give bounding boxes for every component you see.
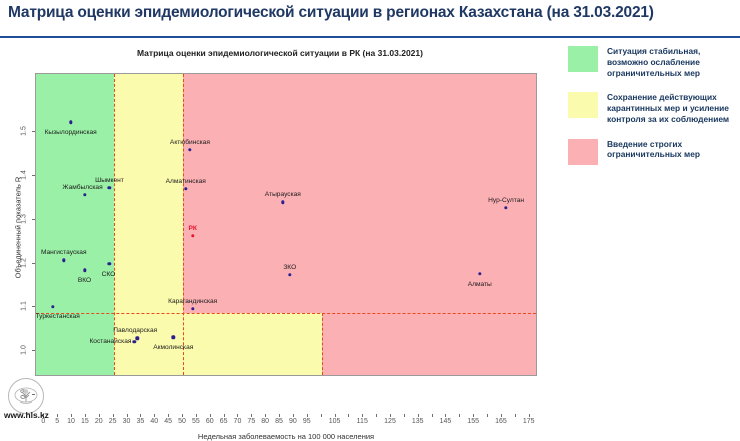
data-point-label: Мангистауская [41, 249, 87, 256]
data-point-label: СКО [102, 271, 116, 278]
x-axis-tick-label: 60 [206, 418, 214, 425]
legend-swatch [568, 139, 598, 165]
y-axis-title: Объединенный показатель R [14, 158, 23, 298]
y-axis-tick [32, 263, 35, 264]
legend-item-2: Введение строгих ограничительных мер [568, 139, 740, 165]
y-axis-tick [32, 219, 35, 220]
footer: www.hls.kz [0, 380, 200, 417]
zone-band-yellow-low [114, 313, 322, 376]
data-point-label: Атырауская [265, 191, 301, 198]
x-axis-tick-label: 70 [234, 418, 242, 425]
x-axis-tick-label: 55 [192, 418, 200, 425]
x-axis-tick-label: 45 [164, 418, 172, 425]
footer-url: www.hls.kz [4, 410, 49, 420]
legend-item-0: Ситуация стабильная, возможно ослабление… [568, 46, 740, 78]
threshold-line-x-50 [183, 74, 184, 375]
x-axis-tick-label: 65 [220, 418, 228, 425]
legend-label: Ситуация стабильная, возможно ослабление… [607, 46, 740, 78]
scatter-plot-area: КызылординскаяАктюбинскаяШымкентАлматинс… [35, 73, 537, 376]
tree-emblem-icon [8, 378, 44, 414]
page-header: Матрица оценки эпидемиологической ситуац… [0, 0, 740, 38]
x-axis-tick-label: 50 [178, 418, 186, 425]
data-point-label: Шымкент [95, 177, 124, 184]
x-axis-tick-label: 85 [275, 418, 283, 425]
data-point-label: Карагандинская [168, 298, 217, 305]
page-title: Матрица оценки эпидемиологической ситуац… [8, 4, 654, 22]
zone-band-green [36, 74, 114, 376]
data-point-label: Костанайская [89, 338, 131, 345]
x-axis-tick-label: 10 [67, 418, 75, 425]
x-axis-tick-label: 135 [412, 418, 424, 425]
x-axis-tick-label: 95 [303, 418, 311, 425]
x-axis-tick-label: 145 [440, 418, 452, 425]
x-axis-tick-label: 115 [357, 418, 368, 425]
legend-swatch [568, 92, 598, 118]
data-point-label: Алматинская [166, 178, 206, 185]
x-axis-tick-label: 25 [109, 418, 117, 425]
x-axis-tick-label: 30 [123, 418, 131, 425]
x-axis-title: Недельная заболеваемость на 100 000 насе… [35, 432, 537, 441]
x-axis-tick-label: 125 [384, 418, 396, 425]
y-axis-tick [32, 131, 35, 132]
x-axis-tick-label: 40 [150, 418, 158, 425]
y-axis-tick [32, 175, 35, 176]
x-axis-tick-label: 20 [95, 418, 103, 425]
data-point-label: Нур-Султан [488, 197, 524, 204]
threshold-line-y-1 [36, 313, 536, 314]
y-axis-tick-label: 1.0 [21, 345, 28, 355]
x-axis-tick-label: 90 [289, 418, 297, 425]
legend-item-1: Сохранение действующих карантинных мер и… [568, 92, 740, 124]
data-point-label: РК [188, 225, 196, 232]
x-axis-tick-label: 75 [247, 418, 255, 425]
legend-swatch [568, 46, 598, 72]
chart-title: Матрица оценки эпидемиологической ситуац… [0, 48, 560, 58]
x-axis-tick-label: 15 [81, 418, 89, 425]
y-axis-tick-label: 1.1 [21, 302, 28, 312]
data-point-label: Акмолинская [153, 344, 193, 351]
data-point-label: ЗКО [283, 264, 296, 271]
zone-band-red [183, 74, 537, 313]
y-axis-tick-label: 1.5 [21, 126, 28, 136]
threshold-line-x-100 [322, 313, 323, 375]
x-axis-tick-label: 35 [136, 418, 144, 425]
data-point-label: Туркестанская [35, 313, 79, 320]
x-axis-tick-label: 80 [261, 418, 269, 425]
data-point-label: Актюбинская [170, 139, 210, 146]
x-axis-tick-label: 155 [467, 418, 479, 425]
x-axis-tick-label: 165 [495, 418, 507, 425]
data-point-label: Кызылординская [45, 129, 97, 136]
data-point-label: Жамбылская [62, 184, 102, 191]
zone-band-red-low [322, 313, 537, 376]
legend-label: Сохранение действующих карантинных мер и… [607, 92, 740, 124]
legend: Ситуация стабильная, возможно ослабление… [568, 46, 740, 179]
legend-label: Введение строгих ограничительных мер [607, 139, 740, 161]
chart-panel: Матрица оценки эпидемиологической ситуац… [0, 38, 560, 408]
y-axis-tick [32, 306, 35, 307]
data-point-label: ВКО [78, 277, 91, 284]
data-point-label: Алматы [468, 281, 492, 288]
data-point-label: Павлодарская [113, 327, 157, 334]
y-axis-tick [32, 350, 35, 351]
x-axis-tick-label: 5 [55, 418, 59, 425]
x-axis-tick-label: 105 [329, 418, 341, 425]
x-axis-tick-label: 175 [523, 418, 535, 425]
